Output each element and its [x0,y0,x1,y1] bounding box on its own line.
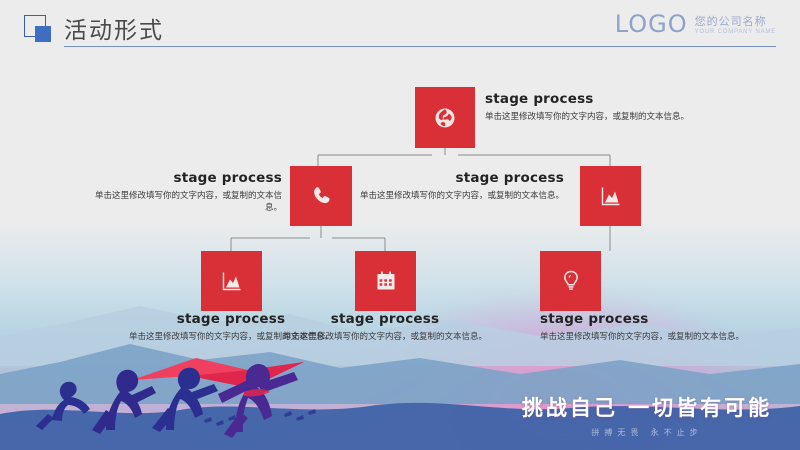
node-bottom-right-desc: 单击这里修改填写你的文字内容，或复制的文本信息。 [540,330,778,342]
node-mid-left-text: stage process 单击这里修改填写你的文字内容，或复制的文本信息。 [86,171,282,213]
node-mid-left-box[interactable] [290,166,352,226]
node-bottom-right-box[interactable] [540,251,601,311]
slogan-sub-text: 拼搏无畏 永不止步 [512,427,782,438]
node-mid-right-title: stage process [352,171,564,187]
chart-mountain-icon [220,269,244,293]
node-bottom-center-desc: 单击这里修改填写你的文字内容，或复制的文本信息。 [265,330,505,342]
node-bottom-center-text: stage process 单击这里修改填写你的文字内容，或复制的文本信息。 [265,312,505,342]
node-bottom-center-box[interactable] [355,251,416,311]
node-mid-left-desc: 单击这里修改填写你的文字内容，或复制的文本信息。 [86,189,282,214]
chart-connector-lines [0,0,800,450]
phone-icon [309,184,333,208]
org-chart: stage process 单击这里修改填写你的文字内容，或复制的文本信息。 s… [0,0,800,450]
node-mid-right-text: stage process 单击这里修改填写你的文字内容，或复制的文本信息。 [352,171,564,201]
node-mid-left-title: stage process [86,171,282,187]
calendar-icon [374,269,398,293]
lightbulb-icon [559,269,583,293]
node-top-title: stage process [485,92,695,108]
node-top-desc: 单击这里修改填写你的文字内容，或复制的文本信息。 [485,110,695,122]
node-mid-right-box[interactable] [580,166,641,226]
node-bottom-right-title: stage process [540,312,778,328]
globe-icon [433,106,457,130]
slogan-main-text: 挑战自己 一切皆有可能 [512,392,782,422]
node-top-box[interactable] [415,87,475,148]
chart-mountain-icon [599,184,623,208]
node-bottom-left-box[interactable] [201,251,262,311]
node-mid-right-desc: 单击这里修改填写你的文字内容，或复制的文本信息。 [352,189,564,201]
footer-slogan: 挑战自己 一切皆有可能 拼搏无畏 永不止步 [512,392,782,438]
node-bottom-right-text: stage process 单击这里修改填写你的文字内容，或复制的文本信息。 [540,312,778,342]
node-bottom-center-title: stage process [265,312,505,328]
node-top-text: stage process 单击这里修改填写你的文字内容，或复制的文本信息。 [485,92,695,122]
slide-canvas: 活动形式 LOGO 您的公司名称 YOUR COMPANY NAME [0,0,800,450]
